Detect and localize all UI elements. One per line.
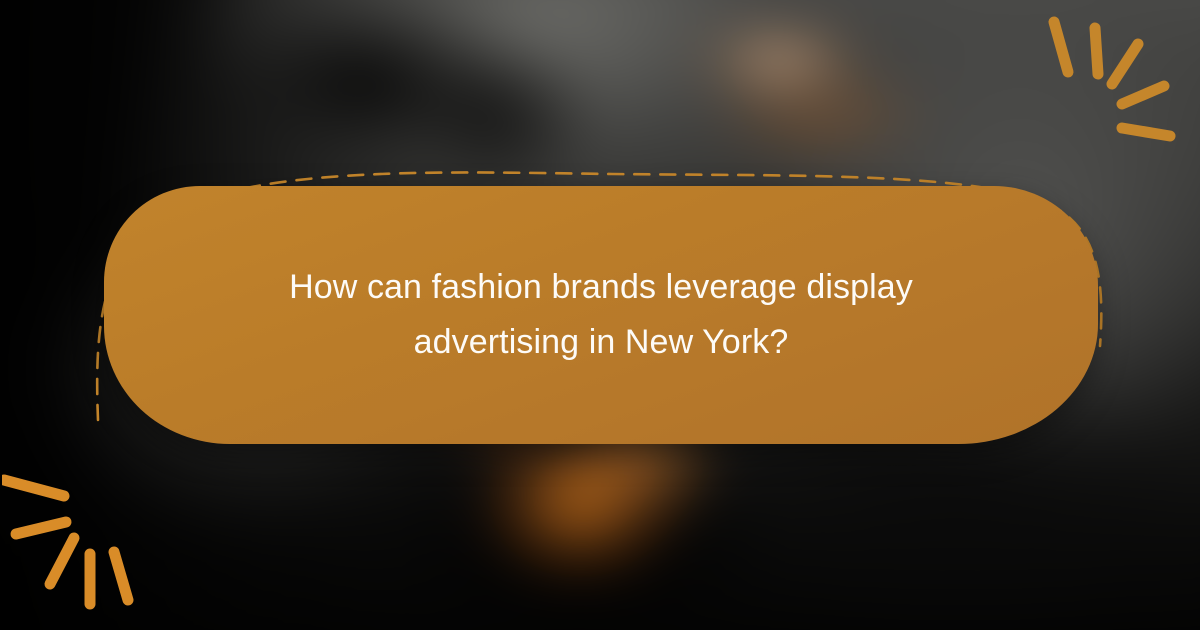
- social-card-canvas: How can fashion brands leverage display …: [0, 0, 1200, 630]
- question-card[interactable]: How can fashion brands leverage display …: [104, 186, 1098, 444]
- card-title: How can fashion brands leverage display …: [221, 260, 981, 370]
